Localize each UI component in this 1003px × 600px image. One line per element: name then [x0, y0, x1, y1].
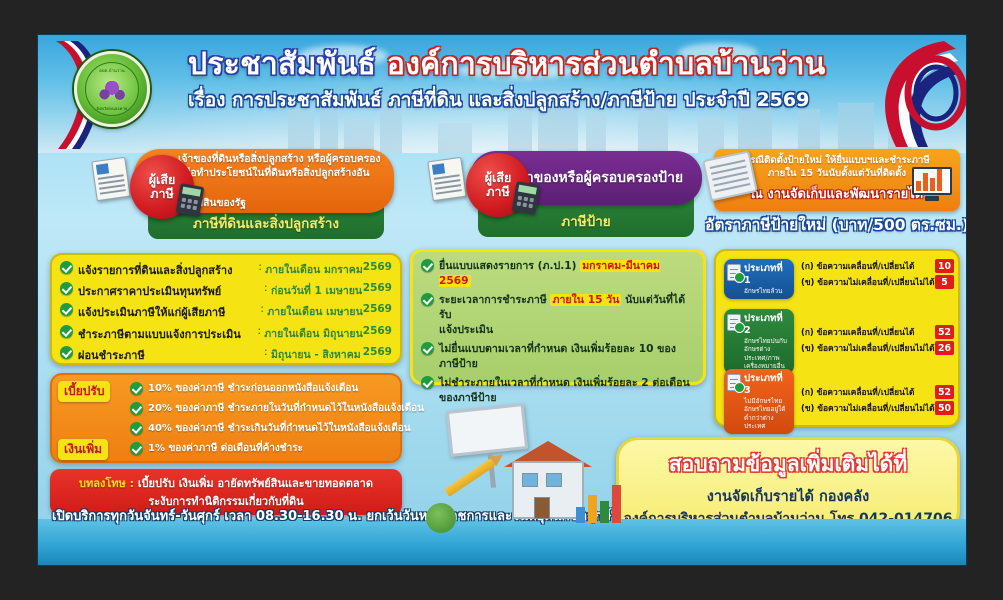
fine-tag: เบี้ยปรับ	[58, 381, 110, 402]
criminal-line-1: บทลงโทษ : เบี้ยปรับ เงินเพิ่ม อายัดทรัพย…	[50, 474, 402, 492]
penalty-text: 10% ของค่าภาษี ชำระก่อนออกหนังสือแจ้งเตื…	[148, 381, 358, 396]
rate-type-tag: ประเภทที่ 1 อักษรไทยล้วน	[724, 259, 794, 299]
page-title: ประชาสัมพันธ์ องค์การบริหารส่วนตำบลบ้านว…	[188, 49, 846, 81]
land-taxpayer-desc-3: ทรัพย์สินของรัฐ	[178, 196, 384, 211]
rate-line-value: 10	[935, 259, 954, 273]
taxpayer-badge-line2: ภาษี	[486, 185, 510, 199]
schedule-year: 2569	[363, 325, 392, 337]
penalty-text: 40% ของค่าภาษี ชำระเกินวันที่กำหนดไว้ในห…	[148, 421, 411, 436]
rate-line: (ก) ข้อความเคลื่อนที่/เปลี่ยนได้ 10	[801, 259, 954, 273]
clipboard-check-icon	[727, 314, 741, 331]
schedule-row: ประกาศราคาประเมินทุนทรัพย์ : ก่อนวันที่ …	[60, 282, 392, 300]
check-icon	[130, 402, 143, 415]
check-icon	[60, 325, 73, 338]
pencil-illustration	[444, 458, 495, 497]
schedule-when: ภายในเดือน มกราคม	[265, 261, 363, 278]
penalty-row: 1% ของค่าภาษี ต่อเดือนที่ค้างชำระ	[130, 441, 303, 456]
check-icon	[421, 259, 434, 272]
rate-line: (ข) ข้อความไม่เคลื่อนที่/เปลี่ยนไม่ได้ 2…	[801, 341, 954, 355]
check-icon	[421, 342, 434, 355]
rate-type-tag: ประเภทที่ 2 อักษรไทยปนกับ อักษรต่างประเท…	[724, 309, 794, 374]
schedule-colon: :	[258, 325, 265, 337]
document-icon	[427, 157, 466, 201]
schedule-colon: :	[264, 346, 271, 358]
schedule-year: 2569	[363, 261, 392, 273]
sign-rate-panel: ประเภทที่ 1 อักษรไทยล้วน (ก) ข้อความเคลื…	[714, 249, 960, 427]
clipboard-check-icon	[727, 374, 741, 391]
rate-type-sub2: อักษรไทยอยู่ใต้	[744, 405, 791, 413]
document-icon	[91, 157, 130, 201]
rate-line-value: 26	[935, 341, 954, 355]
schedule-year: 2569	[363, 303, 392, 315]
land-tax-schedule-panel: แจ้งรายการที่ดินและสิ่งปลูกสร้าง : ภายใน…	[50, 253, 402, 365]
check-icon	[60, 282, 73, 295]
rate-line-value: 5	[935, 275, 954, 289]
rate-line-text: (ก) ข้อความเคลื่อนที่/เปลี่ยนได้	[801, 259, 935, 273]
municipality-emblem: อบต.บ้านว่าน จังหวัดหนองคาย	[74, 51, 150, 127]
page-subtitle: เรื่อง การประชาสัมพันธ์ ภาษีที่ดิน และสิ…	[188, 85, 846, 115]
rate-line: (ข) ข้อความไม่เคลื่อนที่/เปลี่ยนไม่ได้ 5	[801, 275, 954, 289]
contact-department: งานจัดเก็บรายได้ กองคลัง	[619, 487, 957, 508]
poster-canvas: อบต.บ้านว่าน จังหวัดหนองคาย ประชาสัมพันธ…	[38, 35, 966, 565]
rate-items: (ก) ข้อความเคลื่อนที่/เปลี่ยนได้ 52 (ข) …	[794, 369, 954, 434]
schedule-when: ภายในเดือน เมษายน	[267, 303, 362, 320]
banner-row: ภาษีที่ดินและสิ่งปลูกสร้าง เจ้าของที่ดิน…	[38, 147, 966, 253]
check-icon	[130, 442, 143, 455]
title-main-red: องค์การบริหารส่วนตำบลบ้านว่าน	[387, 47, 826, 82]
rule-text: ยื่นแบบแสดงรายการ (ภ.ป.1) มกราคม-มีนาคม …	[439, 259, 694, 289]
rule-continuation: แจ้งประเมิน	[439, 323, 694, 338]
thai-flag-ribbon-right	[852, 35, 966, 153]
rule-row: ระยะเวลาการชำระภาษี ภายใน 15 วัน นับแต่ว…	[421, 293, 694, 338]
schedule-row: ชำระภาษีตามแบบแจ้งการประเมิน : ภายในเดือ…	[60, 325, 392, 343]
rate-line-text: (ข) ข้อความไม่เคลื่อนที่/เปลี่ยนไม่ได้	[801, 275, 935, 289]
land-taxpayer-desc-1: เจ้าของที่ดินหรือสิ่งปลูกสร้าง หรือผู้คร…	[178, 152, 384, 167]
new-sign-notice-line1: กรณีติดตั้งป้ายใหม่ ให้ยื่นแบบฯและชำระภา…	[720, 154, 954, 167]
schedule-row: ผ่อนชำระภาษี : มิถุนายน - สิงหาคม 2569	[60, 346, 392, 364]
rate-items: (ก) ข้อความเคลื่อนที่/เปลี่ยนได้ 10 (ข) …	[794, 259, 954, 299]
rate-line: (ข) ข้อความไม่เคลื่อนที่/เปลี่ยนไม่ได้ 5…	[801, 401, 954, 415]
schedule-label: ชำระภาษีตามแบบแจ้งการประเมิน	[78, 325, 258, 343]
penalty-text: 1% ของค่าภาษี ต่อเดือนที่ค้างชำระ	[148, 441, 303, 456]
rate-line-text: (ก) ข้อความเคลื่อนที่/เปลี่ยนได้	[801, 385, 935, 399]
rate-row-type-2: ประเภทที่ 2 อักษรไทยปนกับ อักษรต่างประเท…	[724, 309, 954, 374]
rule-pre: ไม่ชำระภายในเวลาที่กำหนด เงินเพิ่มร้อยละ…	[439, 377, 690, 389]
rate-type-head: ประเภทที่ 2	[744, 313, 791, 337]
calculator-icon	[512, 181, 541, 215]
rule-text: ไม่ยื่นแบบตามเวลาที่กำหนด เงินเพิ่มร้อยล…	[439, 342, 694, 372]
rate-items: (ก) ข้อความเคลื่อนที่/เปลี่ยนได้ 52 (ข) …	[794, 309, 954, 374]
rate-line-value: 52	[935, 325, 954, 339]
poster-header: อบต.บ้านว่าน จังหวัดหนองคาย ประชาสัมพันธ…	[38, 35, 966, 153]
penalty-panel: เบี้ยปรับ 10% ของค่าภาษี ชำระก่อนออกหนัง…	[50, 373, 402, 463]
house-illustration	[512, 461, 584, 519]
emblem-area: อบต.บ้านว่าน จังหวัดหนองคาย	[48, 39, 166, 151]
check-icon	[421, 376, 434, 389]
penalty-row: 40% ของค่าภาษี ชำระเกินวันที่กำหนดไว้ในห…	[130, 421, 411, 436]
calculator-icon	[176, 183, 205, 217]
rate-type-head: ประเภทที่ 3	[744, 373, 791, 397]
taxpayer-badge-line2: ภาษี	[150, 187, 174, 201]
rule-row: ยื่นแบบแสดงรายการ (ภ.ป.1) มกราคม-มีนาคม …	[421, 259, 694, 289]
rule-text: ไม่ชำระภายในเวลาที่กำหนด เงินเพิ่มร้อยละ…	[439, 376, 690, 406]
rule-pre: ยื่นแบบแสดงรายการ (ภ.ป.1)	[439, 260, 576, 272]
rate-type-sub1: ไม่มีอักษรไทย	[744, 397, 791, 405]
tree-illustration	[426, 503, 456, 533]
rate-line-text: (ข) ข้อความไม่เคลื่อนที่/เปลี่ยนไม่ได้	[801, 401, 935, 415]
land-tax-category-label: ภาษีที่ดินและสิ่งปลูกสร้าง	[193, 212, 339, 234]
schedule-colon: :	[260, 303, 267, 315]
rate-line: (ก) ข้อความเคลื่อนที่/เปลี่ยนได้ 52	[801, 325, 954, 339]
rate-line: (ก) ข้อความเคลื่อนที่/เปลี่ยนได้ 52	[801, 385, 954, 399]
penalty-row: 20% ของค่าภาษี ชำระภายในวันที่กำหนดไว้ใน…	[130, 401, 424, 416]
rate-row-type-1: ประเภทที่ 1 อักษรไทยล้วน (ก) ข้อความเคลื…	[724, 259, 954, 299]
penalty-text: 20% ของค่าภาษี ชำระภายในวันที่กำหนดไว้ใน…	[148, 401, 424, 416]
schedule-when: ภายในเดือน มิถุนายน	[264, 325, 363, 342]
check-icon	[60, 346, 73, 359]
rate-line-text: (ก) ข้อความเคลื่อนที่/เปลี่ยนได้	[801, 325, 935, 339]
sign-rate-title: อัตราภาษีป้ายใหม่ (บาท/500 ตร.ซม.)	[714, 209, 960, 239]
rate-type-head: ประเภทที่ 1	[744, 263, 791, 287]
sign-tax-rules-panel: ยื่นแบบแสดงรายการ (ภ.ป.1) มกราคม-มีนาคม …	[410, 249, 706, 385]
rate-type-tag: ประเภทที่ 3 ไม่มีอักษรไทย อักษรไทยอยู่ใต…	[724, 369, 794, 434]
rate-type-sub2: อักษรต่างประเทศ/ภาพ	[744, 345, 791, 362]
criminal-text-1: เบี้ยปรับ เงินเพิ่ม อายัดทรัพย์สินและขาย…	[138, 477, 373, 490]
rate-line-value: 50	[935, 401, 954, 415]
criminal-label: บทลงโทษ :	[79, 477, 134, 490]
rate-line-text: (ข) ข้อความไม่เคลื่อนที่/เปลี่ยนไม่ได้	[801, 341, 935, 355]
emblem-bottom-text: จังหวัดหนองคาย	[86, 105, 138, 112]
rule-highlight: ภายใน 15 วัน	[550, 294, 621, 306]
schedule-colon: :	[258, 261, 265, 273]
clipboard-check-icon	[727, 264, 741, 281]
rule-continuation: ของภาษีป้าย	[439, 391, 690, 406]
schedule-year: 2569	[363, 346, 392, 358]
schedule-label: ประกาศราคาประเมินทุนทรัพย์	[78, 282, 264, 300]
check-icon	[60, 261, 73, 274]
emblem-top-text: อบต.บ้านว่าน	[86, 67, 138, 74]
sign-tax-category-label: ภาษีป้าย	[561, 210, 610, 232]
schedule-row: แจ้งรายการที่ดินและสิ่งปลูกสร้าง : ภายใน…	[60, 261, 392, 279]
check-icon	[60, 303, 73, 316]
rate-type-sub3: ต่ำกว่าต่างประเทศ	[744, 414, 791, 431]
schedule-when: มิถุนายน - สิงหาคม	[271, 346, 363, 363]
schedule-when: ก่อนวันที่ 1 เมษายน	[271, 282, 363, 299]
rate-row-type-3: ประเภทที่ 3 ไม่มีอักษรไทย อักษรไทยอยู่ใต…	[724, 369, 954, 434]
schedule-year: 2569	[363, 282, 392, 294]
schedule-colon: :	[264, 282, 271, 294]
contact-heading: สอบถามข้อมูลเพิ่มเติมได้ที่	[619, 448, 957, 481]
schedule-label: แจ้งประเมินภาษีให้แก่ผู้เสียภาษี	[78, 303, 260, 321]
taxpayer-badge-line1: ผู้เสีย	[485, 171, 512, 185]
emblem-motif-icon	[97, 79, 127, 101]
rule-row: ไม่ชำระภายในเวลาที่กำหนด เงินเพิ่มร้อยละ…	[421, 376, 694, 406]
title-main-blue: ประชาสัมพันธ์	[188, 47, 376, 82]
check-icon	[130, 382, 143, 395]
rule-text: ระยะเวลาการชำระภาษี ภายใน 15 วัน นับแต่ว…	[439, 293, 694, 338]
surcharge-tag: เงินเพิ่ม	[58, 439, 108, 460]
penalty-row: 10% ของค่าภาษี ชำระก่อนออกหนังสือแจ้งเตื…	[130, 381, 358, 396]
schedule-label: ผ่อนชำระภาษี	[78, 346, 264, 364]
land-taxpayer-desc-2: หรือทำประโยชน์ในที่ดินหรือสิ่งปลูกสร้างอ…	[178, 166, 384, 195]
title-block: ประชาสัมพันธ์ องค์การบริหารส่วนตำบลบ้านว…	[188, 49, 846, 115]
taxpayer-badge-line1: ผู้เสีย	[149, 173, 176, 187]
schedule-label: แจ้งรายการที่ดินและสิ่งปลูกสร้าง	[78, 261, 258, 279]
rule-pre: ระยะเวลาการชำระภาษี	[439, 294, 547, 306]
rate-type-sub1: อักษรไทยปนกับ	[744, 337, 791, 345]
sign-tax-rules-list: ยื่นแบบแสดงรายการ (ภ.ป.1) มกราคม-มีนาคม …	[413, 252, 703, 406]
rule-row: ไม่ยื่นแบบตามเวลาที่กำหนด เงินเพิ่มร้อยล…	[421, 342, 694, 372]
monitor-chart-icon	[912, 167, 952, 201]
rate-type-sub1: อักษรไทยล้วน	[744, 287, 791, 295]
illustration-cluster	[426, 407, 632, 557]
check-icon	[421, 293, 434, 306]
schedule-row: แจ้งประเมินภาษีให้แก่ผู้เสียภาษี : ภายใน…	[60, 303, 392, 321]
bar-chart-illustration	[576, 481, 622, 523]
land-tax-schedule-list: แจ้งรายการที่ดินและสิ่งปลูกสร้าง : ภายใน…	[52, 255, 400, 364]
check-icon	[130, 422, 143, 435]
rate-line-value: 52	[935, 385, 954, 399]
